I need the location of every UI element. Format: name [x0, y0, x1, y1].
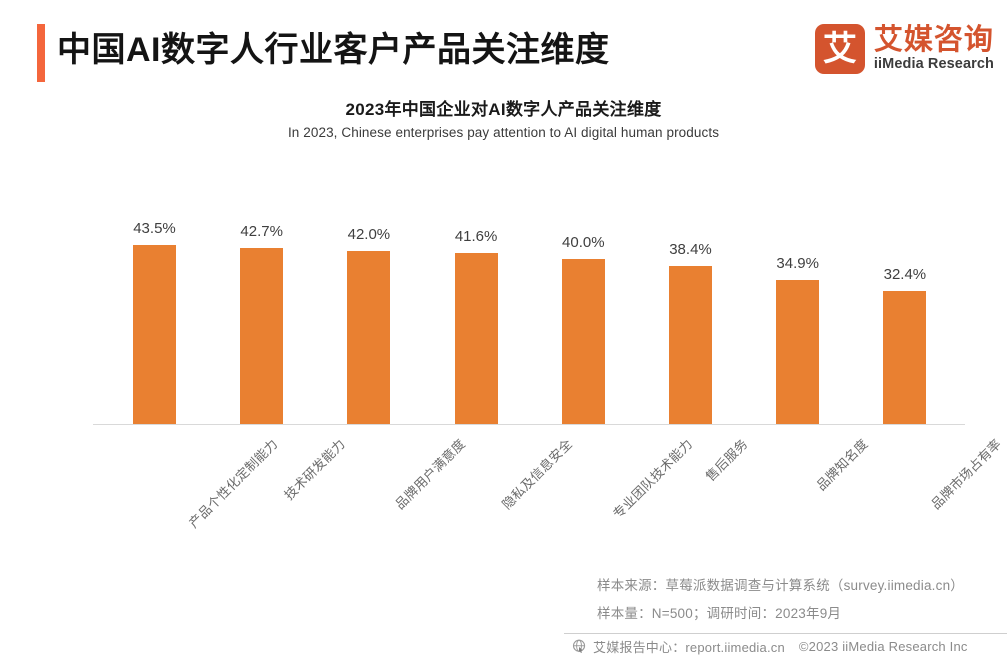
bar-group: 38.4% [669, 266, 712, 424]
title-accent-bar [37, 24, 45, 82]
footnote-sample: 样本量：N=500；调研时间：2023年9月 [597, 600, 964, 628]
bar-group: 34.9% [776, 280, 819, 424]
bar-value-label: 41.6% [422, 228, 531, 245]
chart-footnotes: 样本来源：草莓派数据调查与计算系统（survey.iimedia.cn） 样本量… [597, 572, 964, 628]
bar-value-label: 40.0% [529, 234, 638, 251]
bar[interactable] [133, 245, 176, 424]
bar-group: 42.7% [240, 248, 283, 424]
footer-divider [564, 633, 1007, 634]
footnote-source: 样本来源：草莓派数据调查与计算系统（survey.iimedia.cn） [597, 572, 964, 600]
logo-brand-cn: 艾媒咨询 [874, 25, 994, 55]
bar[interactable] [347, 251, 390, 424]
category-label: 售后服务 [700, 434, 751, 485]
category-label: 专业团队技术能力 [608, 434, 696, 522]
bar-group: 43.5% [133, 245, 176, 424]
category-label: 隐私及信息安全 [497, 434, 576, 513]
globe-icon [572, 639, 587, 654]
category-label: 品牌知名度 [811, 434, 871, 494]
chart-subtitle: In 2023, Chinese enterprises pay attenti… [0, 125, 1007, 140]
category-label: 技术研发能力 [279, 434, 348, 503]
bar[interactable] [240, 248, 283, 424]
bar-value-label: 34.9% [743, 255, 852, 272]
bar-value-label: 38.4% [636, 241, 745, 258]
footer-report-center: 艾媒报告中心：report.iimedia.cn [593, 637, 785, 656]
page-title: 中国AI数字人行业客户产品关注维度 [57, 25, 610, 75]
bar[interactable] [455, 253, 498, 424]
bar-group: 40.0% [562, 259, 605, 424]
iimedia-logo: 艾 艾媒咨询 iiMedia Research [815, 21, 994, 77]
bar-value-label: 42.7% [207, 223, 316, 240]
x-axis-line [93, 424, 965, 425]
logo-mark-icon: 艾 [815, 24, 865, 74]
bar-group: 32.4% [883, 291, 926, 424]
bar[interactable] [669, 266, 712, 424]
bar-value-label: 32.4% [850, 266, 959, 283]
bar[interactable] [776, 280, 819, 424]
bar-value-label: 43.5% [100, 220, 209, 237]
page-header: 中国AI数字人行业客户产品关注维度 艾 艾媒咨询 iiMedia Researc… [0, 0, 1007, 92]
footer-copyright: ©2023 iiMedia Research Inc [799, 639, 968, 654]
logo-text: 艾媒咨询 iiMedia Research [874, 25, 994, 73]
category-label: 产品个性化定制能力 [183, 434, 280, 531]
category-label: 品牌市场占有率 [926, 434, 1005, 513]
bar-group: 41.6% [455, 253, 498, 424]
bar[interactable] [562, 259, 605, 424]
bar[interactable] [883, 291, 926, 424]
chart-title: 2023年中国企业对AI数字人产品关注维度 [0, 95, 1007, 120]
bar-value-label: 42.0% [314, 226, 423, 243]
category-label: 品牌用户满意度 [390, 434, 469, 513]
logo-brand-en: iiMedia Research [874, 55, 994, 73]
page-footer: 艾媒报告中心：report.iimedia.cn ©2023 iiMedia R… [572, 636, 968, 656]
bar-group: 42.0% [347, 251, 390, 424]
